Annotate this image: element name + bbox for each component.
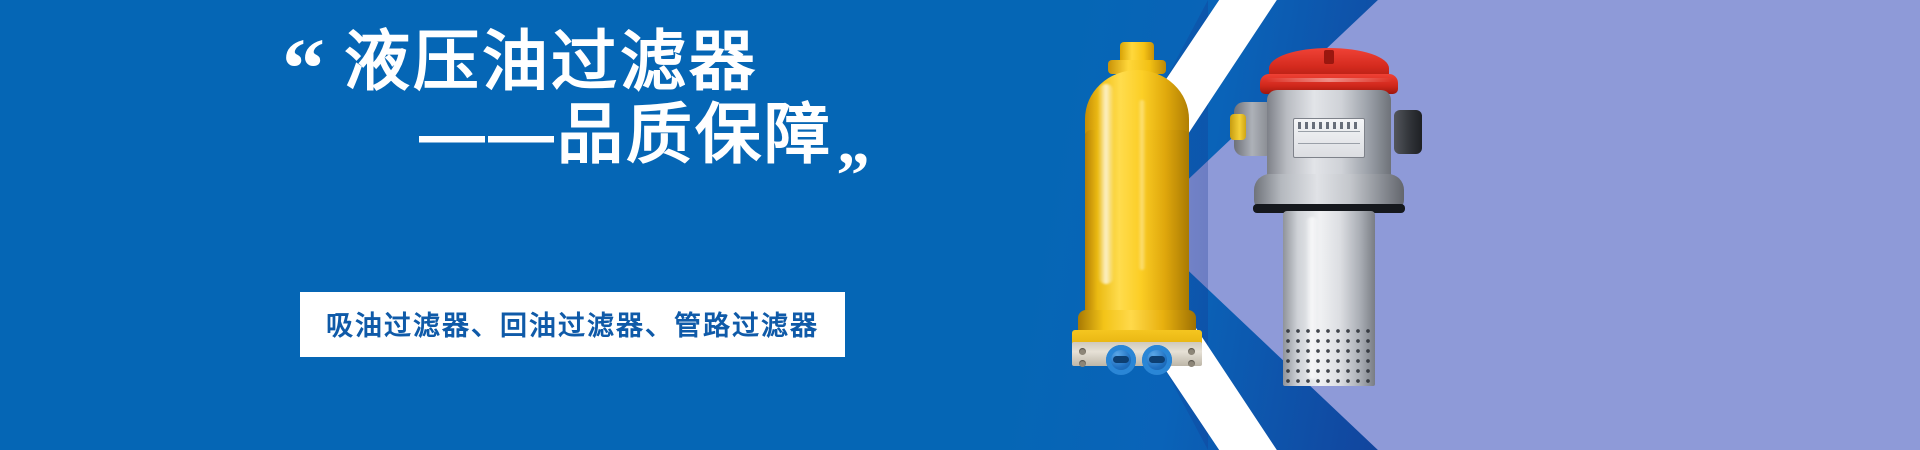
- hydraulic-filter-promo-banner: “ 液压油过滤器 ——品质保障 „ 吸油过滤器、回油过滤器、管路过滤器: [0, 0, 1920, 450]
- strainer-perforation-pattern: [1283, 326, 1375, 388]
- quote-close-icon: „: [837, 109, 867, 175]
- subtitle-badge: 吸油过滤器、回油过滤器、管路过滤器: [300, 292, 845, 357]
- mount-bolt-icon: [1188, 348, 1195, 355]
- product-image-grey-return-filter: [1238, 48, 1420, 378]
- grey-filter-nameplate: [1293, 118, 1365, 158]
- headline-block: “ 液压油过滤器 ——品质保障 „: [282, 28, 902, 169]
- nameplate-title-text: [1298, 122, 1360, 129]
- headline-line-2: ——品质保障: [419, 101, 833, 168]
- grey-filter-side-port-right: [1394, 110, 1422, 154]
- port-cap-icon: [1106, 345, 1136, 375]
- quote-open-icon: “: [282, 34, 321, 103]
- yellow-filter-highlight: [1098, 84, 1114, 284]
- yellow-filter-highlight-secondary: [1138, 100, 1146, 270]
- port-cap-icon: [1142, 345, 1172, 375]
- mount-bolt-icon: [1079, 348, 1086, 355]
- yellow-filter-mount-plate: [1072, 342, 1202, 366]
- grey-filter-yellow-plug: [1230, 114, 1246, 140]
- headline-line-2-row: ——品质保障 „: [282, 101, 867, 168]
- mount-bolt-icon: [1188, 360, 1195, 367]
- headline-line-1: 液压油过滤器: [344, 28, 902, 95]
- cap-notch: [1324, 50, 1334, 64]
- mount-bolt-icon: [1079, 360, 1086, 367]
- product-image-yellow-suction-filter: [1072, 42, 1202, 362]
